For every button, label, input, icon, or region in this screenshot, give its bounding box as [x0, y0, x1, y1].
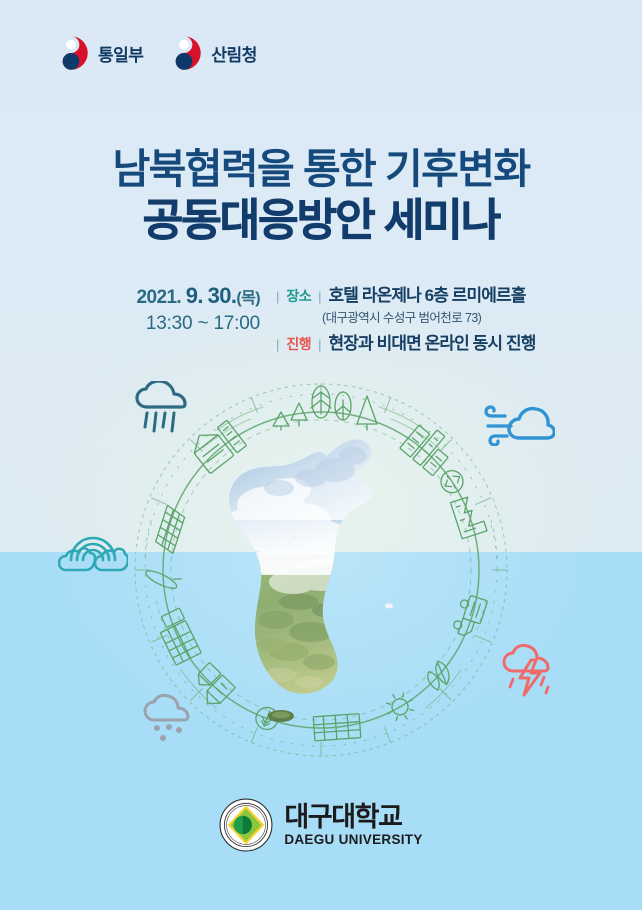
event-date-weekday: (목)	[236, 290, 260, 307]
seminar-poster: 통일부 산림청 남북협력을 통한 기후변화 공동대응방안 세미나 2021. 9…	[0, 0, 642, 910]
event-info: 2021. 9. 30.(목) 13:30 ~ 17:00 | 장소 | 호텔 …	[0, 281, 642, 354]
mode-row: | 진행 | 현장과 비대면 온라인 동시 진행	[276, 329, 526, 354]
ministry-of-unification-logo: 통일부	[52, 34, 143, 72]
event-location-details: | 장소 | 호텔 라온제나 6층 르미에르홀 (대구광역시 수성구 범어천로 …	[276, 281, 526, 354]
venue-value: 호텔 라온제나 6층 르미에르홀	[329, 281, 526, 306]
rain-cloud-icon	[131, 381, 193, 439]
mode-value: 현장과 비대면 온라인 동시 진행	[329, 329, 536, 354]
event-datetime: 2021. 9. 30.(목) 13:30 ~ 17:00	[116, 281, 276, 337]
title-line-2: 공동대응방안 세미나	[0, 195, 642, 248]
university-name-block: 대구대학교 DAEGU UNIVERSITY	[284, 804, 422, 847]
korean-peninsula-map	[211, 430, 401, 722]
ring-truck-icon	[451, 593, 487, 639]
event-time: 13:30 ~ 17:00	[116, 311, 260, 337]
svg-text:· · · · ·: · · · · ·	[242, 847, 251, 851]
ring-leaf-icon	[423, 660, 455, 692]
mode-divider-right: |	[318, 337, 321, 352]
ulleungdo-island	[385, 604, 393, 609]
university-name-english: DAEGU UNIVERSITY	[284, 833, 422, 847]
daegu-university-seal-icon: · · · · · · · · · ·	[219, 798, 273, 852]
wind-cloud-icon	[483, 404, 555, 446]
venue-tag: 장소	[286, 286, 311, 306]
thunderstorm-icon	[500, 643, 558, 699]
venue-divider-left: |	[276, 289, 279, 304]
venue-address: (대구광역시 수성구 범어천로 73)	[322, 307, 526, 326]
ring-solar-panel-icon	[154, 505, 187, 553]
university-name-korean: 대구대학교	[284, 804, 422, 831]
venue-divider-right: |	[318, 289, 321, 304]
korea-forest-service-label: 산림청	[211, 41, 256, 66]
daegu-university-logo: · · · · · · · · · · 대구대학교 DAEGU UNIVERSI…	[0, 798, 642, 852]
venue-row: | 장소 | 호텔 라온제나 6층 르미에르홀	[276, 281, 526, 306]
korea-forest-service-logo: 산림청	[165, 34, 256, 72]
taegeuk-icon	[165, 34, 203, 72]
rainbow-cloud-icon	[58, 530, 128, 572]
taegeuk-icon	[52, 34, 90, 72]
event-date-month: 9.	[186, 283, 203, 308]
title-line-1: 남북협력을 통한 기후변화	[0, 145, 642, 193]
mode-tag: 진행	[286, 334, 311, 354]
event-date-day: 30.	[208, 283, 237, 308]
ministry-of-unification-label: 통일부	[98, 41, 143, 66]
event-date: 2021. 9. 30.(목)	[116, 281, 260, 310]
svg-text:· · · · ·: · · · · ·	[241, 800, 252, 805]
snow-cloud-icon	[140, 694, 196, 746]
event-date-year: 2021.	[137, 287, 182, 308]
poster-title: 남북협력을 통한 기후변화 공동대응방안 세미나	[0, 145, 642, 248]
government-logos: 통일부 산림청	[52, 34, 257, 72]
mode-divider-left: |	[276, 337, 279, 352]
